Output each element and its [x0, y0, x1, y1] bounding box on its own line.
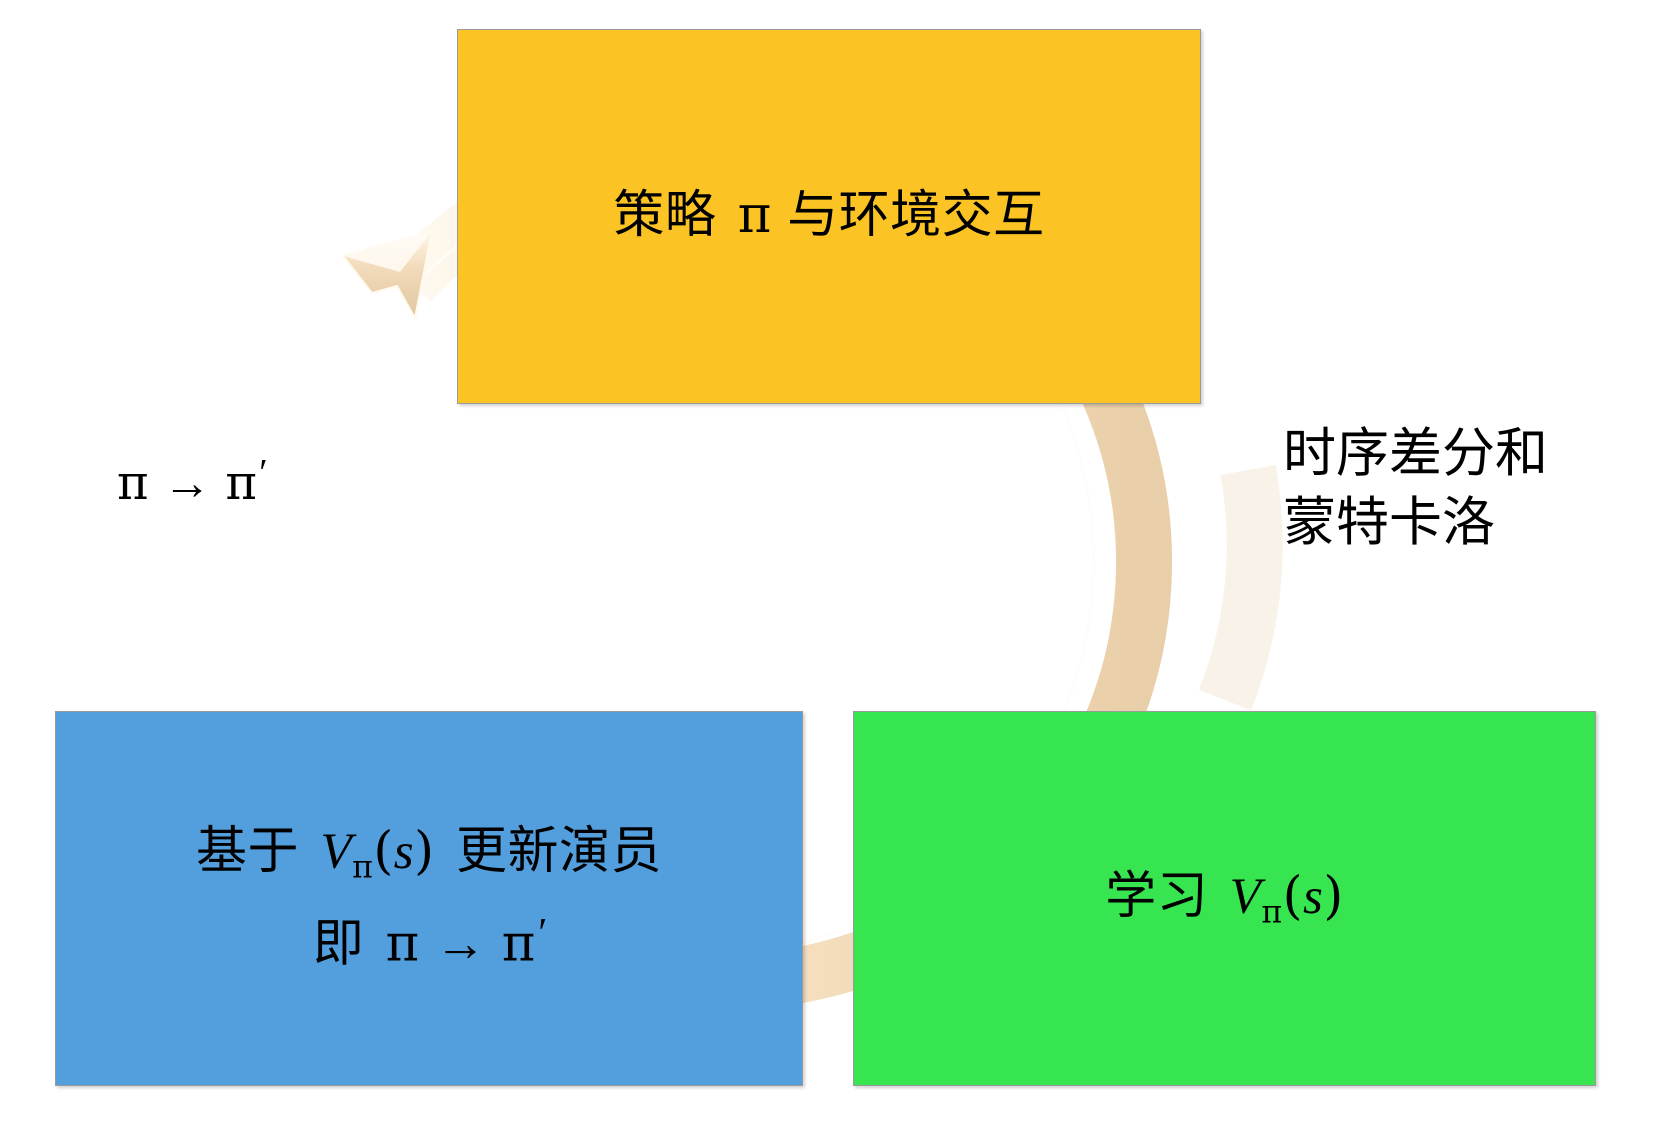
- prime-mark: ′: [257, 452, 265, 494]
- prime-mark: ′: [536, 910, 545, 955]
- pi-symbol-to: π: [225, 455, 257, 511]
- value-function-v: V: [1230, 869, 1262, 925]
- paren-close: ): [1323, 867, 1343, 926]
- label-value-estimation-line1: 时序差分和: [1283, 420, 1548, 489]
- right-arrow-glyph: →: [435, 917, 487, 973]
- diagram-canvas: 策略π与环境交互 基于Vπ(s)更新演员 即π→π′ 学习Vπ(s) π→π′ …: [0, 0, 1666, 1122]
- box-left-line2-prefix: 即: [313, 917, 365, 973]
- box-update-actor: 基于Vπ(s)更新演员 即π→π′: [55, 711, 803, 1086]
- box-top-text: 策略π与环境交互: [613, 183, 1044, 249]
- label-value-estimation: 时序差分和 蒙特卡洛: [1283, 420, 1548, 558]
- box-left-line2: 即π→π′: [313, 906, 546, 978]
- state-s: s: [394, 824, 414, 880]
- cycle-arrowhead: [343, 231, 432, 318]
- pi-symbol: π: [738, 186, 772, 245]
- label-policy-improvement: π→π′: [117, 452, 265, 511]
- pi-symbol-to: π: [502, 915, 536, 974]
- paren-open: (: [373, 822, 393, 881]
- box-top-prefix: 策略: [613, 188, 716, 244]
- right-arrow-glyph: →: [163, 457, 211, 510]
- pi-subscript: π: [352, 849, 373, 885]
- box-learn-value: 学习Vπ(s): [853, 711, 1596, 1086]
- label-value-estimation-line2: 蒙特卡洛: [1283, 489, 1548, 558]
- box-right-text: 学习Vπ(s): [1105, 864, 1344, 934]
- box-left-line1: 基于Vπ(s)更新演员: [196, 819, 662, 889]
- pi-subscript: π: [1261, 894, 1282, 930]
- box-right-prefix: 学习: [1105, 869, 1208, 925]
- value-function-v: V: [320, 824, 352, 880]
- box-left-line1-suffix: 更新演员: [456, 824, 662, 880]
- paren-open: (: [1283, 867, 1303, 926]
- box-top-suffix: 与环境交互: [787, 188, 1045, 244]
- paren-close: ): [414, 822, 434, 881]
- box-policy-interaction: 策略π与环境交互: [457, 29, 1201, 404]
- box-left-line1-prefix: 基于: [196, 824, 299, 880]
- pi-symbol-from: π: [386, 915, 420, 974]
- pi-symbol-from: π: [117, 455, 149, 511]
- state-s: s: [1303, 869, 1323, 925]
